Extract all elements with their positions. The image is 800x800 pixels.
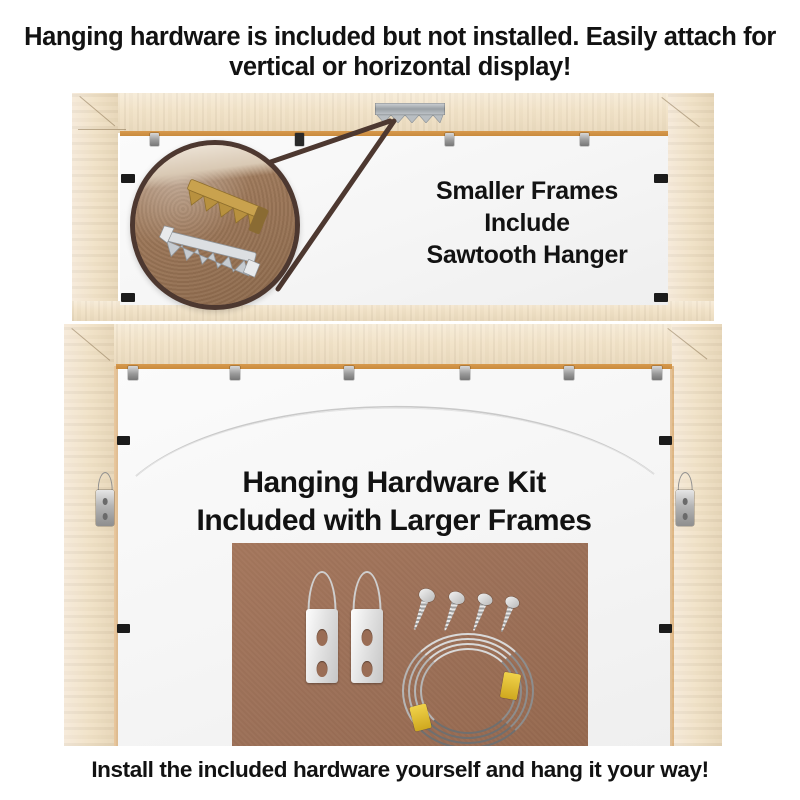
frame-right-rail	[672, 324, 722, 746]
infographic-canvas: Hanging hardware is included but not ins…	[0, 0, 800, 800]
kit-screw-3-icon	[467, 592, 494, 633]
backing-clip	[445, 133, 454, 146]
backing-clip	[121, 293, 135, 302]
backing-clip	[344, 366, 354, 380]
frame-left-rail	[64, 324, 114, 746]
backing-clip	[295, 133, 304, 146]
kit-d-ring-2-icon	[351, 571, 383, 683]
backing-clip	[117, 624, 130, 633]
label-line-2: Included with Larger Frames	[116, 502, 672, 540]
larger-frame-back-photo: Hanging Hardware Kit Included with Large…	[64, 324, 722, 746]
bottom-caption: Install the included hardware yourself a…	[0, 757, 800, 784]
backing-clip	[659, 624, 672, 633]
sawtooth-hanger-brass-icon	[135, 145, 295, 305]
backing-clip	[230, 366, 240, 380]
frame-inner-edge-top	[116, 364, 672, 369]
backing-clip	[460, 366, 470, 380]
frame-miter-left	[78, 129, 126, 130]
backing-clip	[652, 366, 662, 380]
callout-line-2: Include	[372, 207, 682, 239]
backing-clip	[564, 366, 574, 380]
d-ring-hanger-left-icon	[96, 472, 114, 526]
kit-screw-2-icon	[438, 589, 467, 632]
kit-d-ring-1-icon	[306, 571, 338, 683]
magnifier-callout	[130, 140, 300, 310]
frame-top-rail	[64, 324, 722, 366]
label-line-1: Hanging Hardware Kit	[116, 464, 672, 502]
frame-left-rail	[72, 93, 118, 321]
backing-clip	[128, 366, 138, 380]
backing-clip	[654, 293, 668, 302]
d-ring-hanger-right-icon	[676, 472, 694, 526]
kit-hanging-wire-coil-icon	[402, 633, 530, 745]
top-headline: Hanging hardware is included but not ins…	[0, 22, 800, 82]
sawtooth-hanger-icon	[375, 103, 445, 123]
backing-clip	[121, 174, 135, 183]
hardware-kit-photo	[232, 543, 588, 746]
frame-inner-edge-left	[114, 366, 118, 746]
frame-inner-edge-right	[670, 366, 674, 746]
larger-frame-label-text: Hanging Hardware Kit Included with Large…	[116, 464, 672, 540]
kit-screw-1-icon	[407, 587, 436, 632]
backing-clip	[117, 436, 130, 445]
smaller-frame-callout-text: Smaller Frames Include Sawtooth Hanger	[372, 175, 682, 271]
backing-clip	[659, 436, 672, 445]
callout-line-1: Smaller Frames	[372, 175, 682, 207]
callout-line-3: Sawtooth Hanger	[372, 239, 682, 271]
backing-clip	[580, 133, 589, 146]
smaller-frame-back-photo: Smaller Frames Include Sawtooth Hanger	[72, 93, 714, 321]
kit-screw-4-icon	[495, 595, 520, 634]
